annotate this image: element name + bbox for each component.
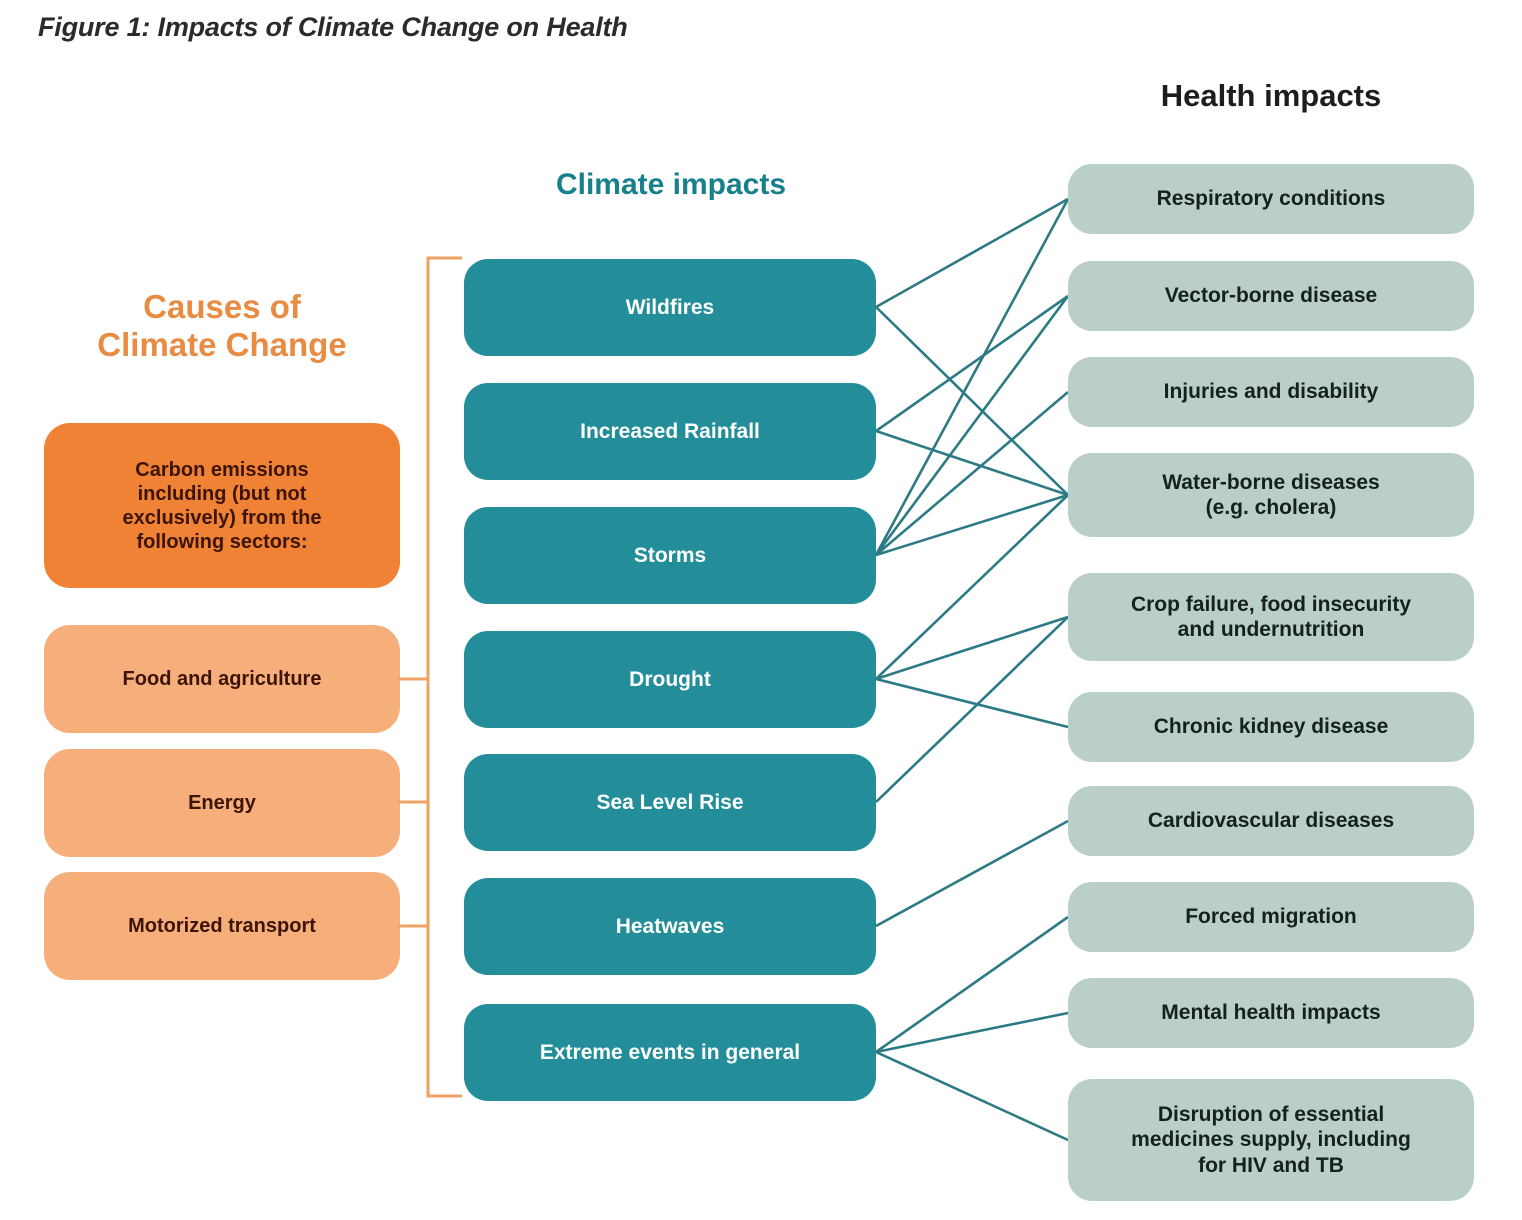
figure-title: Figure 1: Impacts of Climate Change on H… — [38, 12, 628, 43]
health-box-cardiovascular-diseases[interactable]: Cardiovascular diseases — [1068, 786, 1474, 856]
health-box-chronic-kidney-disease-label: Chronic kidney disease — [1154, 714, 1389, 739]
climate-box-extreme-events[interactable]: Extreme events in general — [464, 1004, 876, 1101]
climate-box-heatwaves-label: Heatwaves — [616, 914, 725, 939]
climate-box-sea-level-rise[interactable]: Sea Level Rise — [464, 754, 876, 851]
climate-box-wildfires[interactable]: Wildfires — [464, 259, 876, 356]
cause-box-energy-label: Energy — [188, 791, 256, 815]
health-box-water-borne-diseases[interactable]: Water-borne diseases (e.g. cholera) — [1068, 453, 1474, 537]
health-box-crop-failure-label: Crop failure, food insecurity and undern… — [1131, 592, 1411, 642]
climate-column-heading: Climate impacts — [465, 168, 877, 203]
health-box-respiratory-conditions-label: Respiratory conditions — [1157, 186, 1386, 211]
causes-column-heading: Causes of Climate Change — [44, 288, 400, 364]
climate-box-storms-label: Storms — [634, 543, 706, 568]
climate-box-sea-level-rise-label: Sea Level Rise — [596, 790, 743, 815]
climate-box-wildfires-label: Wildfires — [626, 295, 715, 320]
health-box-mental-health-impacts-label: Mental health impacts — [1161, 1000, 1380, 1025]
health-box-forced-migration[interactable]: Forced migration — [1068, 882, 1474, 952]
health-box-water-borne-diseases-label: Water-borne diseases (e.g. cholera) — [1162, 470, 1379, 520]
health-box-vector-borne-disease-label: Vector-borne disease — [1165, 283, 1377, 308]
cause-box-motorized-transport-label: Motorized transport — [128, 914, 316, 938]
health-column-heading: Health impacts — [1068, 78, 1474, 114]
health-box-chronic-kidney-disease[interactable]: Chronic kidney disease — [1068, 692, 1474, 762]
health-box-disruption-of-medicines-label: Disruption of essential medicines supply… — [1131, 1102, 1411, 1178]
health-box-cardiovascular-diseases-label: Cardiovascular diseases — [1148, 808, 1394, 833]
cause-box-food-and-agriculture[interactable]: Food and agriculture — [44, 625, 400, 733]
health-box-injuries-and-disability-label: Injuries and disability — [1164, 379, 1379, 404]
cause-box-food-and-agriculture-label: Food and agriculture — [123, 667, 322, 691]
cause-box-carbon-emissions-label: Carbon emissions including (but not excl… — [123, 458, 322, 554]
health-box-forced-migration-label: Forced migration — [1185, 904, 1357, 929]
climate-box-extreme-events-label: Extreme events in general — [540, 1040, 800, 1065]
health-box-disruption-of-medicines[interactable]: Disruption of essential medicines supply… — [1068, 1079, 1474, 1201]
cause-box-motorized-transport[interactable]: Motorized transport — [44, 872, 400, 980]
figure-canvas: Figure 1: Impacts of Climate Change on H… — [0, 0, 1522, 1220]
cause-box-energy[interactable]: Energy — [44, 749, 400, 857]
health-box-mental-health-impacts[interactable]: Mental health impacts — [1068, 978, 1474, 1048]
health-box-injuries-and-disability[interactable]: Injuries and disability — [1068, 357, 1474, 427]
climate-box-drought[interactable]: Drought — [464, 631, 876, 728]
cause-box-carbon-emissions[interactable]: Carbon emissions including (but not excl… — [44, 423, 400, 588]
climate-box-storms[interactable]: Storms — [464, 507, 876, 604]
climate-box-increased-rainfall[interactable]: Increased Rainfall — [464, 383, 876, 480]
health-box-respiratory-conditions[interactable]: Respiratory conditions — [1068, 164, 1474, 234]
health-box-vector-borne-disease[interactable]: Vector-borne disease — [1068, 261, 1474, 331]
climate-box-drought-label: Drought — [629, 667, 711, 692]
climate-box-heatwaves[interactable]: Heatwaves — [464, 878, 876, 975]
health-box-crop-failure[interactable]: Crop failure, food insecurity and undern… — [1068, 573, 1474, 661]
climate-box-increased-rainfall-label: Increased Rainfall — [580, 419, 760, 444]
